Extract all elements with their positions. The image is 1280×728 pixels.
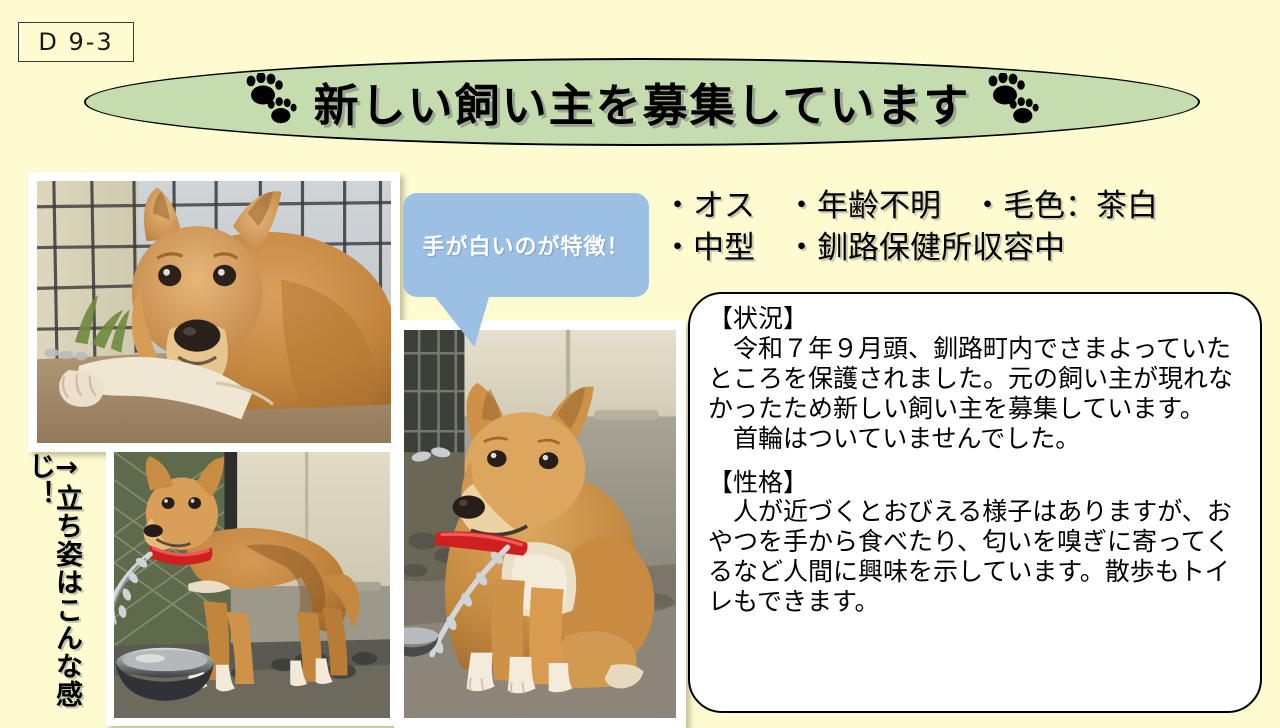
title-banner: 新しい飼い主を募集しています: [84, 58, 1200, 146]
personality-body: 人が近づくとおびえる様子はありますが、おやつを手から食べたり、匂いを嗅ぎに寄って…: [708, 497, 1248, 617]
photo-dog-standing-image: [114, 452, 390, 718]
photo-dog-sitting: [394, 320, 686, 728]
paw-prints-icon: [242, 73, 300, 129]
description-box: 【状況】 令和７年９月頭、釧路町内でさまよっていたところを保護されました。元の飼…: [688, 292, 1262, 713]
attribute-line-2: ・中型 ・釧路保健所収容中: [662, 228, 1272, 270]
photo-dog-lying-image: [37, 181, 391, 443]
photo-dog-lying: [28, 172, 400, 452]
page-title: 新しい飼い主を募集しています: [314, 69, 971, 134]
dog-attributes: ・オス ・年齢不明 ・毛色：茶白 ・中型 ・釧路保健所収容中: [662, 186, 1272, 270]
title-inner: 新しい飼い主を募集しています: [242, 69, 1043, 134]
situation-body: 令和７年９月頭、釧路町内でさまよっていたところを保護されました。元の飼い主が現れ…: [708, 334, 1248, 454]
situation-heading: 【状況】: [708, 304, 1248, 334]
callout-tail: [434, 295, 503, 347]
callout-text: 手が白いのが特徴！: [422, 229, 629, 261]
section-gap: [708, 454, 1248, 468]
personality-heading: 【性格】: [708, 468, 1248, 498]
callout-bubble: 手が白いのが特徴！: [403, 193, 649, 297]
slide-code-label: D 9-3: [18, 22, 134, 62]
vertical-caption: →立ち姿はこんな感じ！: [34, 452, 80, 708]
slide-canvas: D 9-3: [0, 0, 1280, 720]
paw-prints-icon: [984, 73, 1042, 129]
attribute-line-1: ・オス ・年齢不明 ・毛色：茶白: [662, 186, 1272, 228]
photo-dog-standing: [106, 444, 398, 726]
photo-dog-sitting-image: [404, 330, 676, 718]
